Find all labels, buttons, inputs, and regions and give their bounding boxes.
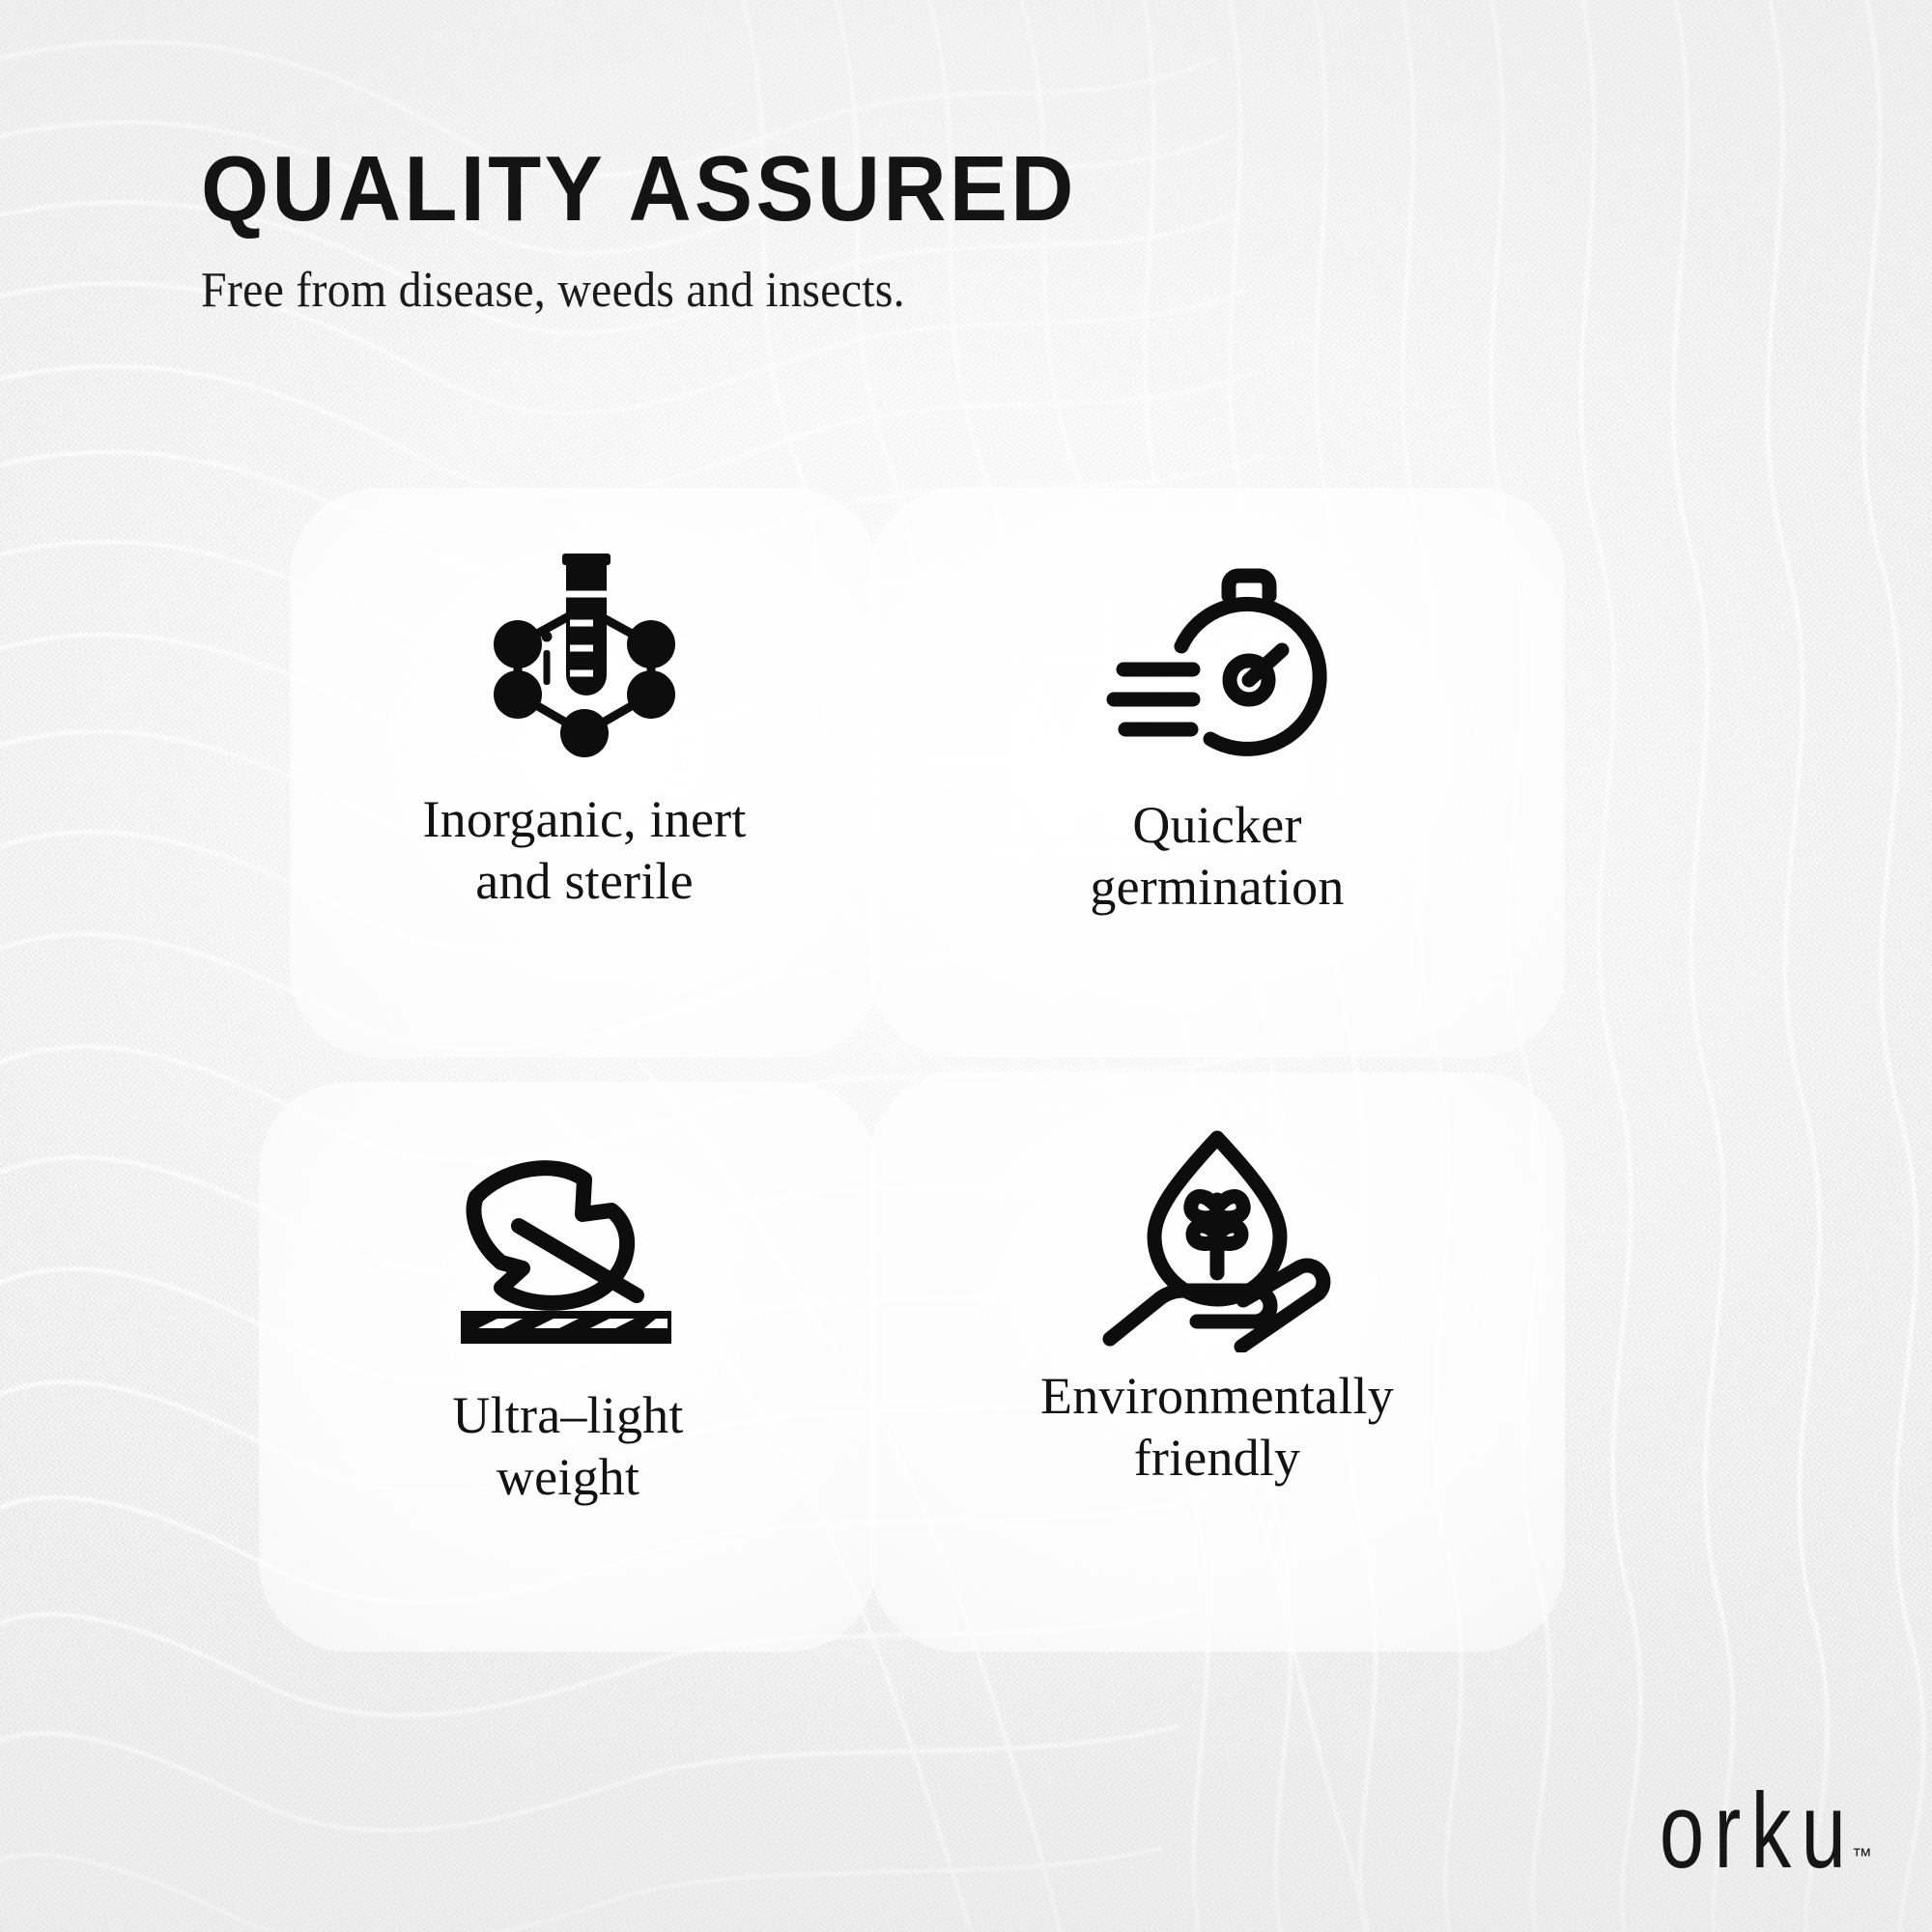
page-subtitle: Free from disease, weeds and insects. [201, 263, 1267, 318]
feature-card-ultra-light-weight[interactable]: Ultra–light weight [259, 1082, 877, 1652]
feather-on-scale-icon [447, 1126, 689, 1368]
poster-canvas: QUALITY ASSURED Free from disease, weeds… [0, 0, 1932, 1932]
feature-card-label: Quicker germination [1090, 795, 1344, 918]
leaf-in-hand-icon [1096, 1111, 1338, 1352]
feature-card-label: Environmentally friendly [1040, 1366, 1394, 1489]
brand-name: orku [1660, 1784, 1856, 1882]
header-block: QUALITY ASSURED Free from disease, weeds… [201, 143, 1360, 318]
brand-logo: orku ™ [1610, 1789, 1872, 1882]
feature-card-quicker-germination[interactable]: Quicker germination [869, 488, 1565, 1058]
fast-stopwatch-icon [1096, 536, 1338, 778]
feature-card-label: Ultra–light weight [452, 1385, 683, 1508]
feature-card-inorganic-inert-sterile[interactable]: Inorganic, inert and sterile [290, 488, 879, 1058]
feature-card-environmentally-friendly[interactable]: Environmentally friendly [869, 1072, 1565, 1652]
molecule-test-tube-icon [473, 534, 696, 776]
feature-card-label: Inorganic, inert and sterile [422, 789, 746, 912]
page-title: QUALITY ASSURED [201, 143, 1291, 236]
